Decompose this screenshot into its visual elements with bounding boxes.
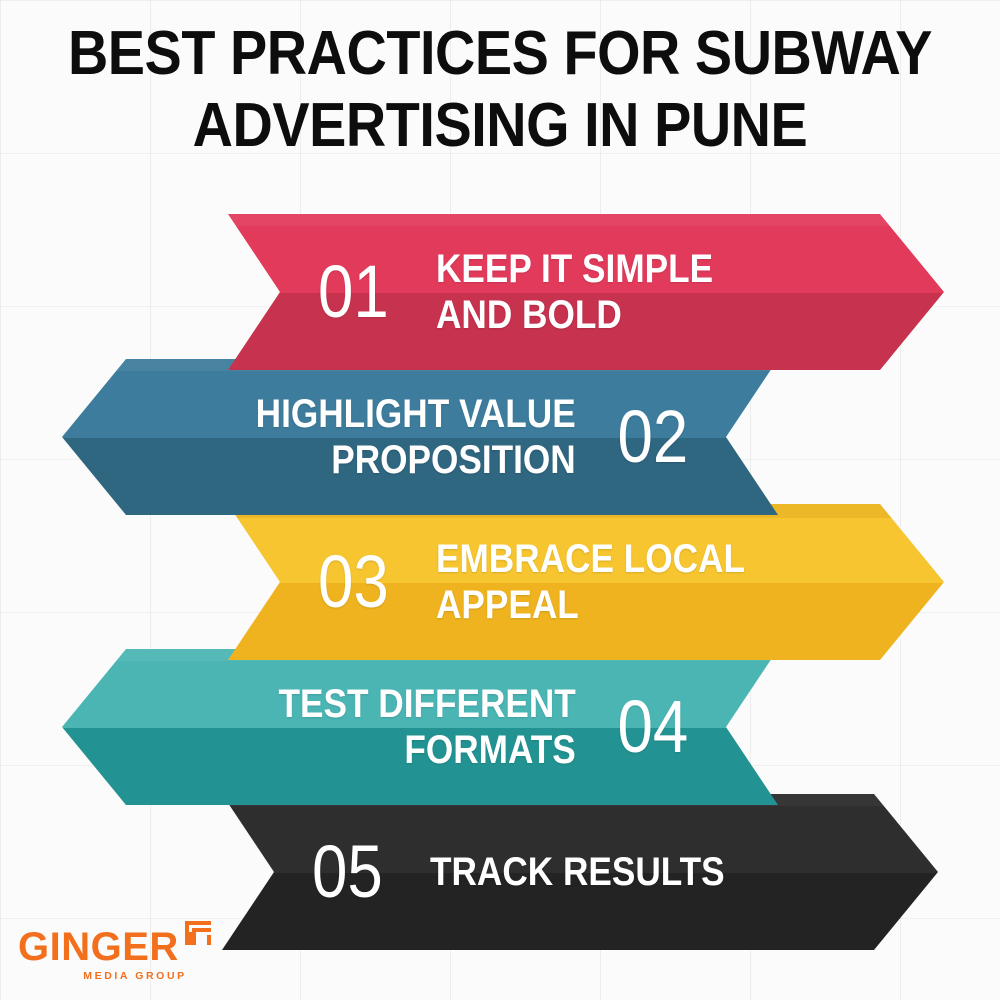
banner-shape-3	[228, 504, 944, 660]
banner-shape-1	[228, 214, 944, 370]
page-title: BEST PRACTICES FOR SUBWAY ADVERTISING IN…	[0, 18, 1000, 162]
step-banner-1[interactable]: 01 KEEP IT SIMPLE AND BOLD	[228, 214, 944, 370]
infographic-canvas: BEST PRACTICES FOR SUBWAY ADVERTISING IN…	[0, 0, 1000, 1000]
nested-squares-icon	[183, 919, 213, 952]
banner-bottom-fill-1	[228, 293, 944, 370]
banner-bottom-fill-5	[222, 873, 938, 950]
step-banner-2[interactable]: HIGHLIGHT VALUE PROPOSITION 02	[62, 359, 778, 515]
banner-bottom-fill-3	[228, 583, 944, 660]
logo-wordmark: GINGER	[18, 927, 179, 967]
logo-tagline: MEDIA GROUP	[18, 970, 218, 982]
banner-bottom-fill-4	[62, 728, 778, 805]
banner-shape-4	[62, 649, 778, 805]
title-line-1: BEST PRACTICES FOR SUBWAY	[50, 18, 950, 90]
title-line-2: ADVERTISING IN PUNE	[50, 90, 950, 162]
step-banner-4[interactable]: TEST DIFFERENT FORMATS 04	[62, 649, 778, 805]
step-banner-3[interactable]: 03 EMBRACE LOCAL APPEAL	[228, 504, 944, 660]
banner-shape-2	[62, 359, 778, 515]
banner-bottom-fill-2	[62, 438, 778, 515]
step-banner-5[interactable]: 05 TRACK RESULTS	[222, 794, 938, 950]
banner-shape-5	[222, 794, 938, 950]
brand-logo[interactable]: GINGER MEDIA GROUP	[18, 927, 218, 982]
